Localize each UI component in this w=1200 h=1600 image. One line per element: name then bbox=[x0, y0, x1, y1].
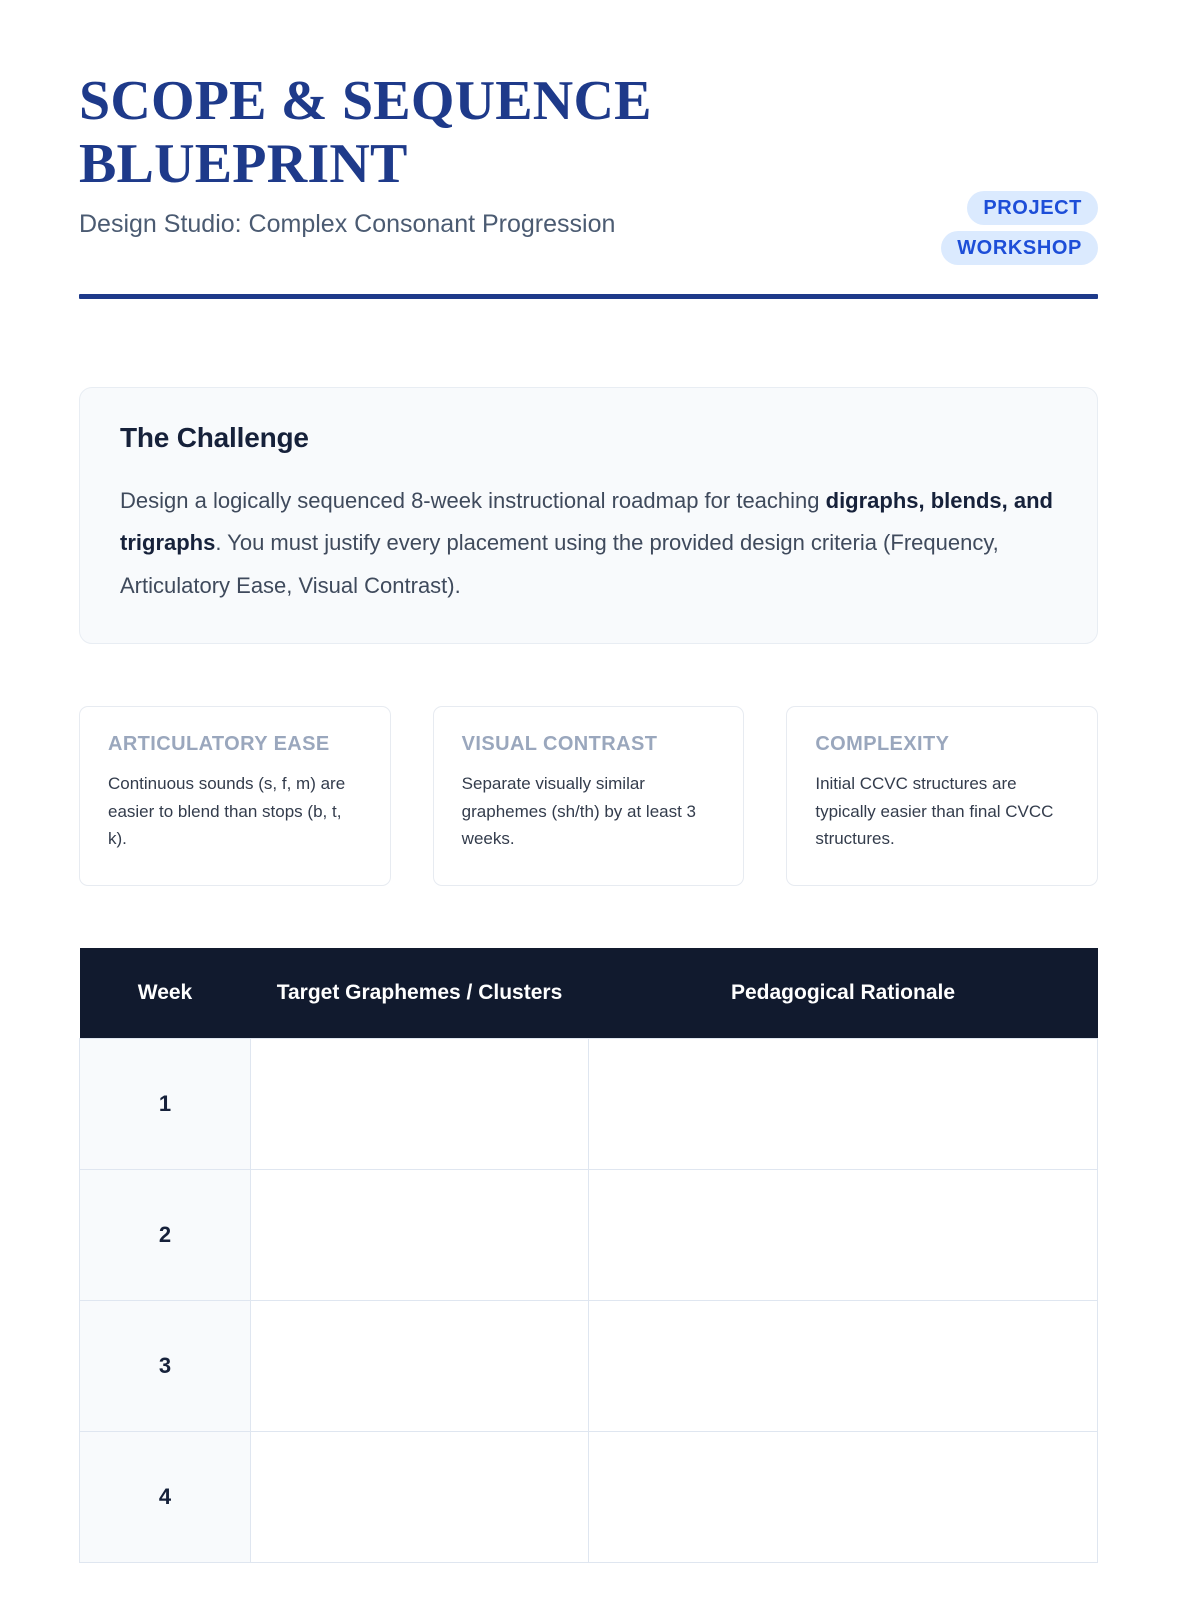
header-row: SCOPE & SEQUENCE BLUEPRINT Design Studio… bbox=[79, 70, 1098, 268]
target-graphemes-cell[interactable] bbox=[251, 1170, 589, 1301]
badge-container: PROJECT WORKSHOP bbox=[930, 188, 1098, 268]
challenge-body-part1: Design a logically sequenced 8-week inst… bbox=[120, 488, 826, 513]
week-number-cell: 1 bbox=[80, 1039, 251, 1170]
table-row: 1 bbox=[80, 1039, 1098, 1170]
table-body: 1 2 3 4 bbox=[80, 1039, 1098, 1563]
target-graphemes-cell[interactable] bbox=[251, 1432, 589, 1563]
page-subtitle: Design Studio: Complex Consonant Progres… bbox=[79, 209, 699, 240]
week-number-cell: 3 bbox=[80, 1301, 251, 1432]
table-header-row: Week Target Graphemes / Clusters Pedagog… bbox=[80, 948, 1098, 1038]
week-number-cell: 2 bbox=[80, 1170, 251, 1301]
criteria-card-text: Separate visually similar graphemes (sh/… bbox=[462, 770, 718, 852]
target-graphemes-cell[interactable] bbox=[251, 1039, 589, 1170]
pedagogical-rationale-cell[interactable] bbox=[589, 1170, 1098, 1301]
challenge-body: Design a logically sequenced 8-week inst… bbox=[120, 480, 1057, 607]
column-header-target-graphemes: Target Graphemes / Clusters bbox=[251, 948, 589, 1038]
criteria-card-text: Initial CCVC structures are typically ea… bbox=[815, 770, 1071, 852]
table-row: 4 bbox=[80, 1432, 1098, 1563]
pedagogical-rationale-cell[interactable] bbox=[589, 1301, 1098, 1432]
challenge-body-part2: . You must justify every placement using… bbox=[120, 530, 999, 597]
header-divider bbox=[79, 294, 1098, 299]
criteria-card-complexity: COMPLEXITY Initial CCVC structures are t… bbox=[786, 706, 1098, 886]
criteria-card-row: ARTICULATORY EASE Continuous sounds (s, … bbox=[79, 706, 1098, 886]
criteria-card-text: Continuous sounds (s, f, m) are easier t… bbox=[108, 770, 364, 852]
header-title-block: SCOPE & SEQUENCE BLUEPRINT Design Studio… bbox=[79, 70, 699, 241]
criteria-card-articulatory-ease: ARTICULATORY EASE Continuous sounds (s, … bbox=[79, 706, 391, 886]
table-header: Week Target Graphemes / Clusters Pedagog… bbox=[80, 948, 1098, 1038]
challenge-panel: The Challenge Design a logically sequenc… bbox=[79, 387, 1098, 644]
criteria-card-title: COMPLEXITY bbox=[815, 733, 1071, 756]
column-header-pedagogical-rationale: Pedagogical Rationale bbox=[589, 948, 1098, 1038]
page-header: SCOPE & SEQUENCE BLUEPRINT Design Studio… bbox=[79, 70, 1098, 321]
blueprint-table: Week Target Graphemes / Clusters Pedagog… bbox=[79, 948, 1098, 1563]
column-header-week: Week bbox=[80, 948, 251, 1038]
page-title: SCOPE & SEQUENCE BLUEPRINT bbox=[79, 70, 699, 195]
table-row: 2 bbox=[80, 1170, 1098, 1301]
status-badge: PROJECT WORKSHOP bbox=[941, 191, 1098, 265]
pedagogical-rationale-cell[interactable] bbox=[589, 1432, 1098, 1563]
week-number-cell: 4 bbox=[80, 1432, 251, 1563]
criteria-card-title: ARTICULATORY EASE bbox=[108, 733, 364, 756]
pedagogical-rationale-cell[interactable] bbox=[589, 1039, 1098, 1170]
criteria-card-title: VISUAL CONTRAST bbox=[462, 733, 718, 756]
challenge-heading: The Challenge bbox=[120, 422, 1057, 454]
target-graphemes-cell[interactable] bbox=[251, 1301, 589, 1432]
criteria-card-visual-contrast: VISUAL CONTRAST Separate visually simila… bbox=[433, 706, 745, 886]
blueprint-page: SCOPE & SEQUENCE BLUEPRINT Design Studio… bbox=[0, 0, 1200, 1600]
table-row: 3 bbox=[80, 1301, 1098, 1432]
blueprint-table-wrapper: Week Target Graphemes / Clusters Pedagog… bbox=[79, 948, 1098, 1563]
